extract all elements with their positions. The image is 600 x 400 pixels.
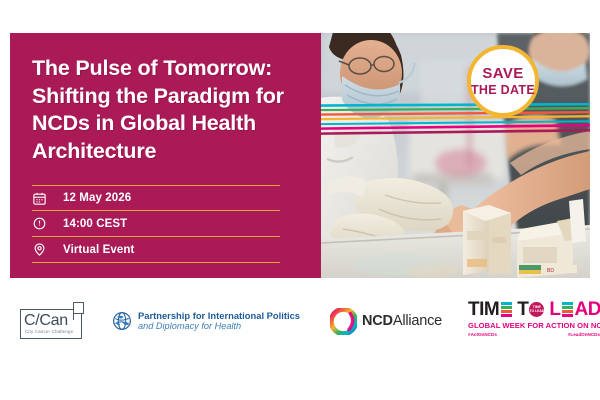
save-the-date-line2: THE DATE bbox=[471, 84, 535, 97]
logo-ccan: C/Can City Cancer Challenge bbox=[0, 292, 90, 350]
ttl-hashtag-right: #LeadOnNCDs bbox=[568, 332, 600, 337]
ttl-word-l: L bbox=[549, 300, 560, 319]
ccan-wordmark: C/Can bbox=[24, 312, 68, 330]
event-time: 14:00 CEST bbox=[63, 218, 127, 230]
ncd-alliance-bold: NCD bbox=[362, 313, 393, 329]
event-banner: The Pulse of Tomorrow: Shifting the Para… bbox=[10, 33, 590, 278]
time-to-lead-wordmark: TIM T TIME TO LEAD L AD bbox=[468, 300, 600, 319]
event-date: 12 May 2026 bbox=[63, 192, 131, 204]
svg-text:BD: BD bbox=[547, 268, 554, 274]
ncd-alliance-ring-icon bbox=[330, 308, 357, 335]
clock-icon bbox=[32, 214, 54, 234]
detail-row-location: Virtual Event bbox=[32, 237, 280, 263]
page-title: The Pulse of Tomorrow: Shifting the Para… bbox=[32, 55, 303, 165]
save-the-date-line1: SAVE bbox=[482, 66, 523, 81]
ttl-circle-badge-icon: TIME TO LEAD bbox=[529, 302, 544, 317]
partnership-line2: and Diplomacy for Health bbox=[138, 321, 300, 333]
ttl-word-ad: AD bbox=[574, 300, 600, 319]
ttl-word-to: T bbox=[517, 300, 528, 319]
ccan-flag-icon bbox=[73, 302, 84, 314]
ttl-hashtags: #ActOnNCDs #LeadOnNCDs bbox=[468, 332, 600, 337]
save-the-date-badge: SAVE THE DATE bbox=[467, 45, 539, 117]
ttl-word-time: TIM bbox=[468, 300, 499, 319]
clinic-photo-illustration: BD bbox=[321, 33, 590, 278]
ttl-subtitle: GLOBAL WEEK FOR ACTION ON NCDs bbox=[468, 321, 600, 330]
event-details-list: 12 May 2026 14:00 CEST bbox=[32, 185, 280, 263]
globe-icon bbox=[112, 311, 132, 331]
logo-time-to-lead: TIM T TIME TO LEAD L AD GLOBAL WEEK F bbox=[442, 292, 600, 350]
ttl-hashtag-left: #ActOnNCDs bbox=[468, 332, 497, 337]
event-location: Virtual Event bbox=[63, 244, 134, 256]
ncd-alliance-wordmark: NCDAlliance bbox=[362, 313, 442, 329]
partnership-line1: Partnership for International Politics bbox=[138, 310, 300, 321]
logo-partnership: Partnership for International Politics a… bbox=[112, 292, 300, 350]
detail-row-time: 14:00 CEST bbox=[32, 211, 280, 237]
logo-ncd-alliance: NCDAlliance bbox=[330, 292, 442, 350]
banner-text-panel: The Pulse of Tomorrow: Shifting the Para… bbox=[10, 33, 321, 278]
ttl-badge-line2: TO LEAD bbox=[529, 310, 544, 314]
event-photo: BD bbox=[321, 33, 590, 278]
ccan-tagline: City Cancer Challenge bbox=[25, 329, 73, 334]
partner-logo-bar: C/Can City Cancer Challenge Partnership … bbox=[0, 292, 600, 350]
poster-root: The Pulse of Tomorrow: Shifting the Para… bbox=[0, 0, 600, 400]
ncd-alliance-regular: Alliance bbox=[393, 313, 442, 329]
location-pin-icon bbox=[32, 240, 54, 260]
detail-row-date: 12 May 2026 bbox=[32, 185, 280, 211]
ttl-bars-e1-icon bbox=[501, 302, 512, 317]
calendar-icon bbox=[32, 188, 54, 208]
ttl-bars-e2-icon bbox=[562, 302, 573, 317]
